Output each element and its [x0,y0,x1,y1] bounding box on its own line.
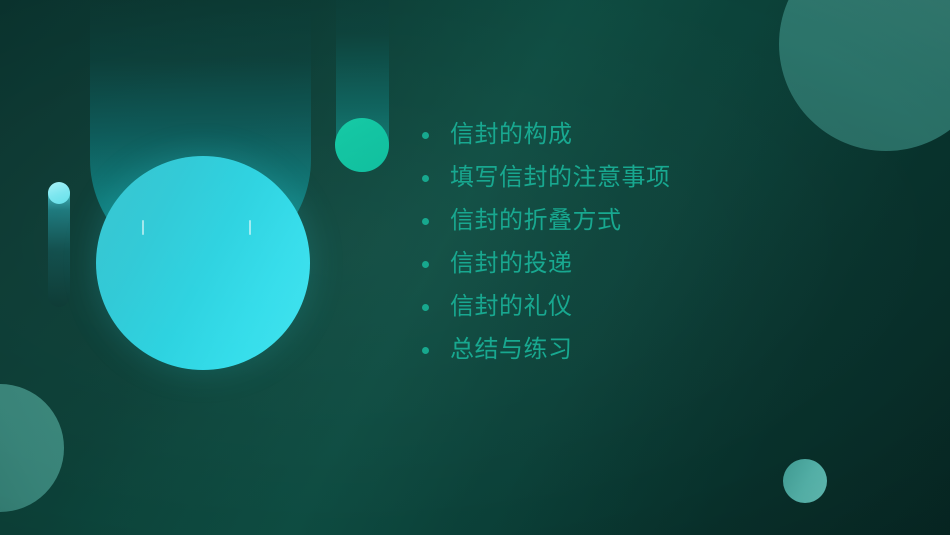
bullet-item-label: 信封的投递 [450,251,573,277]
bullet-dot-icon [422,175,429,182]
bullet-item-label: 信封的构成 [450,122,573,148]
bullet-dot-icon [422,261,429,268]
bullet-dot-icon [422,347,429,354]
bullet-item: 信封的礼仪 [422,286,922,329]
bullet-item-label: 总结与练习 [450,337,573,363]
bullet-item: 信封的构成 [422,114,922,157]
bullet-item: 总结与练习 [422,329,922,372]
bullet-dot-icon [422,218,429,225]
agenda-bullet-list: 信封的构成填写信封的注意事项信封的折叠方式信封的投递信封的礼仪总结与练习 [422,114,922,372]
bullet-item: 信封的投递 [422,243,922,286]
bullet-item-label: 信封的礼仪 [450,294,573,320]
bullet-item-label: 填写信封的注意事项 [450,165,671,191]
bullet-dot-icon [422,304,429,311]
bullet-item-label: 信封的折叠方式 [450,208,622,234]
bullet-item: 信封的折叠方式 [422,200,922,243]
presentation-slide: 信封的构成填写信封的注意事项信封的折叠方式信封的投递信封的礼仪总结与练习 [0,0,950,535]
bullet-item: 填写信封的注意事项 [422,157,922,200]
bullet-dot-icon [422,132,429,139]
